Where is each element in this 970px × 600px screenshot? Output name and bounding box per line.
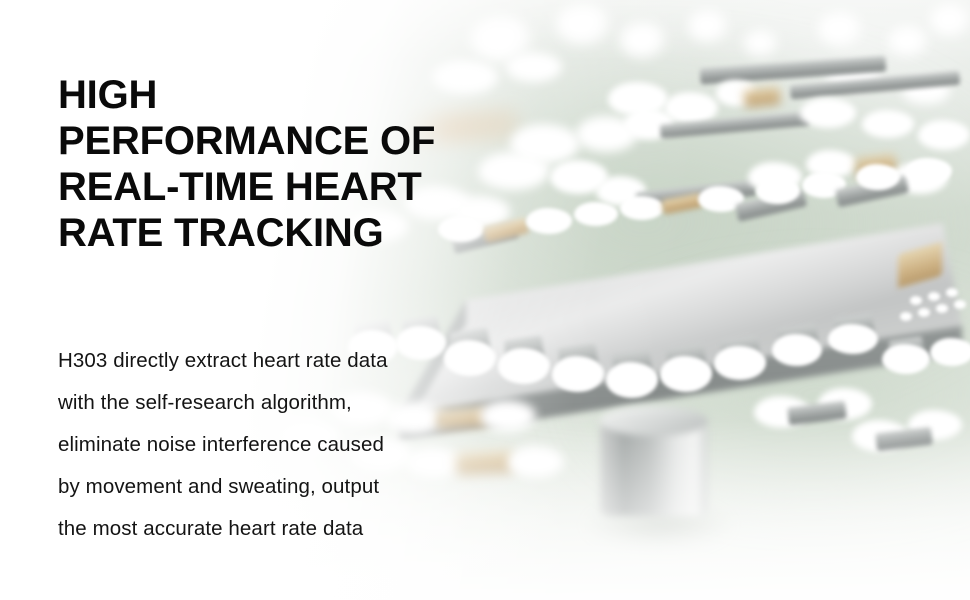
page-title: HIGH PERFORMANCE OF REAL-TIME HEART RATE… [58, 72, 435, 256]
product-feature-banner: HIGH PERFORMANCE OF REAL-TIME HEART RATE… [0, 0, 970, 600]
description-text: H303 directly extract heart rate data wi… [58, 340, 388, 550]
text-content: HIGH PERFORMANCE OF REAL-TIME HEART RATE… [58, 0, 578, 600]
